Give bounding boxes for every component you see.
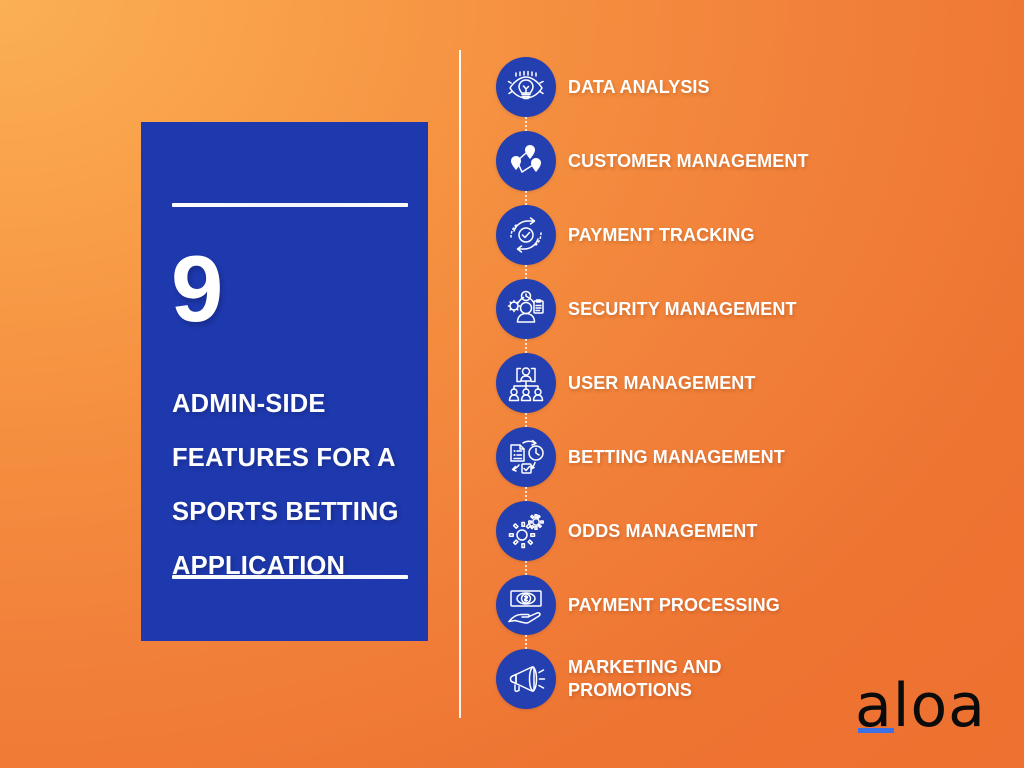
vertical-divider: [459, 50, 461, 718]
lightbulb-eye-insight-icon: [496, 57, 556, 117]
connector-dots: [525, 265, 527, 279]
feature-list: DATA ANALYSIS CUSTOMER MANAGEMENT: [496, 57, 996, 723]
list-item-label: MARKETING AND PROMOTIONS: [568, 649, 722, 709]
double-gear-icon: [496, 501, 556, 561]
connector-dots: [525, 339, 527, 353]
list-item-label: USER MANAGEMENT: [568, 353, 756, 413]
connector-dots: [525, 635, 527, 649]
list-item-label: ODDS MANAGEMENT: [568, 501, 758, 561]
hand-holding-money-icon: [496, 575, 556, 635]
list-item[interactable]: ODDS MANAGEMENT: [496, 501, 996, 575]
list-item-label: CUSTOMER MANAGEMENT: [568, 131, 809, 191]
person-gear-clipboard-icon: [496, 279, 556, 339]
list-item[interactable]: SECURITY MANAGEMENT: [496, 279, 996, 353]
feature-count-number: 9: [171, 244, 222, 333]
list-item-label: BETTING MANAGEMENT: [568, 427, 785, 487]
connector-dots: [525, 413, 527, 427]
connector-dots: [525, 191, 527, 205]
list-item-label: PAYMENT PROCESSING: [568, 575, 780, 635]
list-item[interactable]: PAYMENT PROCESSING: [496, 575, 996, 649]
page-title: ADMIN-SIDE FEATURES FOR A SPORTS BETTING…: [172, 377, 418, 593]
title-rule-top: [172, 203, 408, 207]
list-item[interactable]: USER MANAGEMENT: [496, 353, 996, 427]
connector-dots: [525, 487, 527, 501]
title-rule-bottom: [172, 575, 408, 579]
list-item-label: SECURITY MANAGEMENT: [568, 279, 797, 339]
refresh-check-cycle-icon: [496, 205, 556, 265]
connector-dots: [525, 561, 527, 575]
title-panel: 9 ADMIN-SIDE FEATURES FOR A SPORTS BETTI…: [141, 122, 428, 641]
logo-underline-accent: [858, 728, 894, 733]
list-item[interactable]: BETTING MANAGEMENT: [496, 427, 996, 501]
megaphone-icon: [496, 649, 556, 709]
map-pins-network-icon: [496, 131, 556, 191]
list-item[interactable]: DATA ANALYSIS: [496, 57, 996, 131]
list-item[interactable]: PAYMENT TRACKING: [496, 205, 996, 279]
connector-dots: [525, 117, 527, 131]
logo-wordmark: aloa: [855, 678, 985, 734]
org-chart-people-icon: [496, 353, 556, 413]
list-item-label: DATA ANALYSIS: [568, 57, 710, 117]
list-item-label: PAYMENT TRACKING: [568, 205, 755, 265]
list-item[interactable]: CUSTOMER MANAGEMENT: [496, 131, 996, 205]
aloa-logo: aloa: [855, 678, 985, 740]
document-clock-checkbox-cycle-icon: [496, 427, 556, 487]
